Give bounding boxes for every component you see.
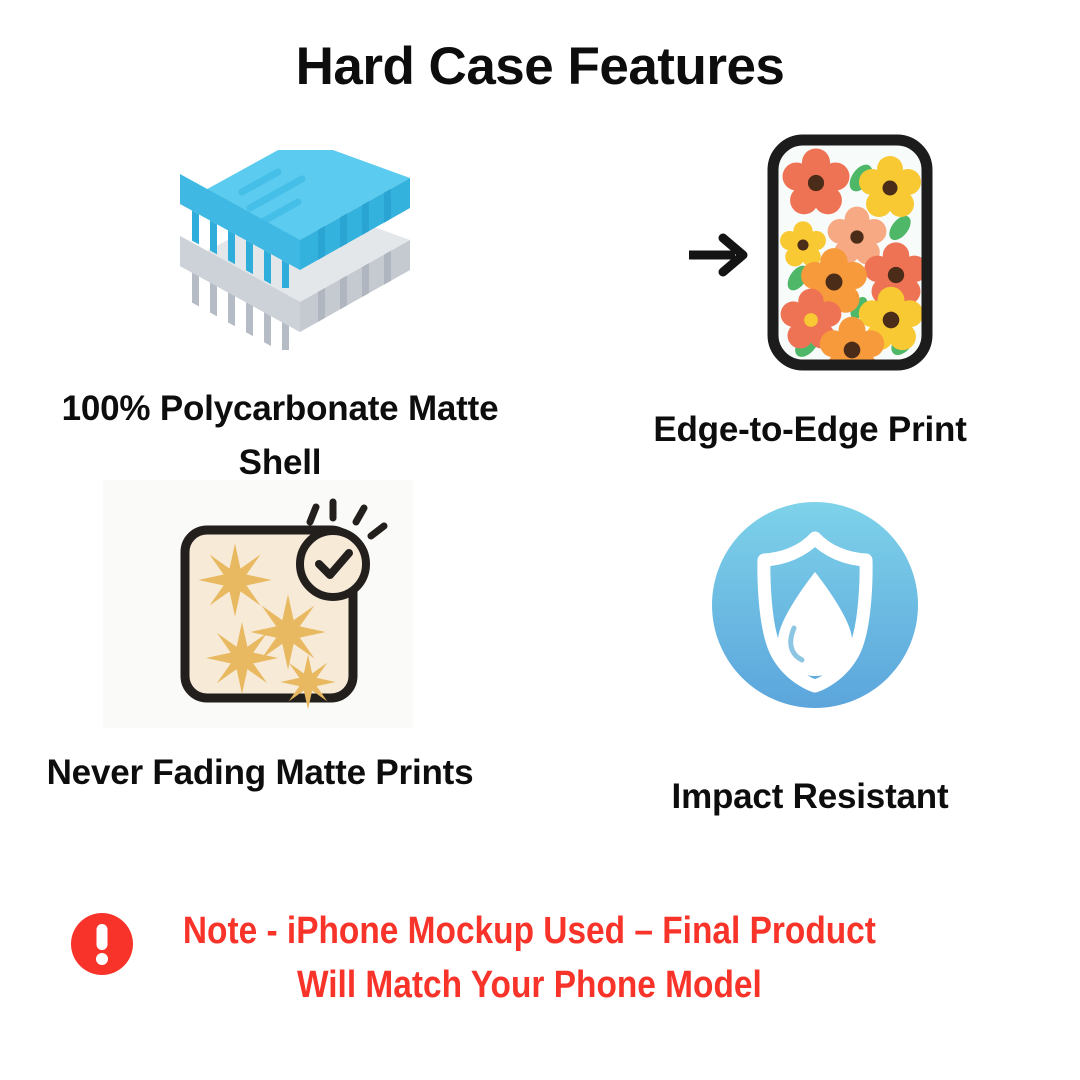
feature-label: Impact Resistant <box>560 770 1060 824</box>
feature-polycarbonate-shell: 100% Polycarbonate Matte Shell <box>20 150 540 491</box>
note-text: Note - iPhone Mockup Used – Final Produc… <box>151 905 908 1013</box>
feature-never-fading-prints: Never Fading Matte Prints <box>20 470 500 800</box>
fade-proof-panel-icon <box>160 492 390 722</box>
feature-art <box>560 120 1060 385</box>
floral-phone-case-icon <box>760 130 940 375</box>
page-title: Hard Case Features <box>0 36 1080 97</box>
feature-label: Never Fading Matte Prints <box>20 746 500 800</box>
feature-art <box>560 500 1060 748</box>
shield-droplet-icon <box>710 500 920 710</box>
layered-slabs-icon <box>150 150 430 370</box>
check-badge-icon <box>300 502 384 597</box>
feature-label: Edge-to-Edge Print <box>560 403 1060 457</box>
feature-art <box>20 150 540 378</box>
feature-impact-resistant: Impact Resistant <box>560 500 1060 824</box>
note-row: Note - iPhone Mockup Used – Final Produc… <box>0 905 1080 1013</box>
arrow-right-icon <box>685 230 755 280</box>
feature-edge-to-edge-print: Edge-to-Edge Print <box>560 120 1060 457</box>
feature-art <box>20 470 500 732</box>
exclamation-circle-icon <box>69 911 135 977</box>
